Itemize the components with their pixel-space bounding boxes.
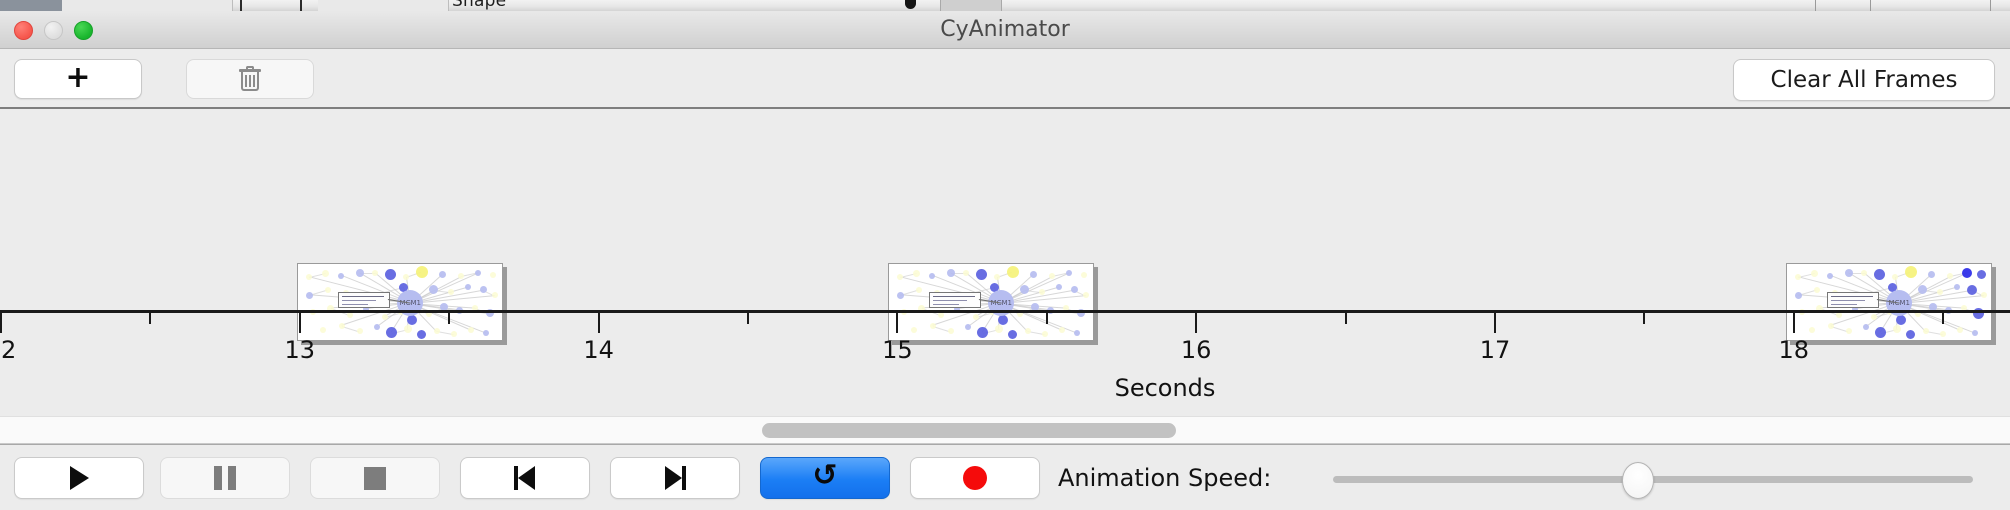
background-window-dark-tab — [0, 0, 62, 11]
network-node — [1007, 266, 1019, 278]
axis-tick-label: 16 — [1181, 336, 1212, 364]
network-node — [416, 266, 428, 278]
trash-icon — [239, 66, 261, 92]
network-node — [403, 274, 409, 280]
network-node — [1892, 274, 1898, 280]
network-node — [1056, 284, 1062, 290]
skip-next-icon — [664, 466, 686, 490]
network-annotation-box — [1827, 292, 1879, 308]
cyanimator-window: Shape CyAnimator + Clear All Frames — [0, 0, 2010, 510]
axis-tick-minor — [1643, 313, 1645, 324]
network-node — [1081, 272, 1087, 278]
record-icon — [963, 466, 987, 490]
background-window-tab — [172, 0, 233, 11]
skip-to-start-button[interactable] — [460, 457, 590, 499]
player-controls-bar: ↺ Animation Speed: — [0, 444, 2010, 510]
network-node — [429, 285, 438, 294]
network-node — [1954, 284, 1960, 290]
clear-all-frames-button[interactable]: Clear All Frames — [1733, 59, 1995, 101]
network-node — [1066, 270, 1072, 276]
network-node — [1795, 292, 1802, 299]
network-node — [306, 274, 312, 280]
background-window-mark — [1815, 0, 1816, 11]
axis-tick-label: 15 — [882, 336, 913, 364]
network-node — [1962, 268, 1972, 278]
network-node — [465, 284, 471, 290]
slider-thumb[interactable] — [1622, 462, 1654, 499]
skip-previous-icon — [514, 466, 536, 490]
background-window-mark — [1870, 0, 1871, 11]
network-node — [947, 269, 955, 277]
skip-to-end-button[interactable] — [610, 457, 740, 499]
network-node — [1827, 273, 1833, 279]
network-node — [1918, 285, 1927, 294]
network-node — [1814, 287, 1820, 293]
loop-icon: ↺ — [812, 461, 837, 491]
pause-icon — [214, 466, 236, 490]
scrollbar-thumb[interactable] — [762, 423, 1176, 438]
axis-tick-minor — [1942, 313, 1944, 324]
background-window-mark — [240, 0, 242, 11]
network-node — [994, 274, 1000, 280]
stop-button[interactable] — [310, 457, 440, 499]
axis-tick-major — [598, 313, 600, 333]
network-node — [1981, 292, 1987, 298]
delete-frame-button[interactable] — [186, 59, 314, 99]
background-window-mark — [1990, 0, 1991, 11]
network-node — [913, 270, 920, 277]
network-node — [356, 269, 364, 277]
record-button[interactable] — [910, 457, 1040, 499]
network-node — [1874, 269, 1885, 280]
background-window-box — [940, 0, 1002, 11]
timeline-axis: 12131415161718 — [0, 310, 2010, 416]
background-window-tab — [62, 0, 173, 11]
loop-button[interactable]: ↺ — [760, 457, 890, 499]
background-window-tab — [388, 0, 449, 11]
network-node — [976, 269, 987, 280]
timeline-scrollbar[interactable] — [0, 416, 2010, 444]
axis-tick-label: 14 — [583, 336, 614, 364]
network-node — [325, 287, 331, 293]
background-window-strip: Shape — [0, 0, 2010, 11]
network-annotation-box — [338, 292, 390, 308]
window-title: CyAnimator — [0, 11, 2010, 49]
network-node — [897, 292, 904, 299]
network-node — [1928, 271, 1935, 278]
network-node — [1030, 271, 1037, 278]
frame-toolbar: + Clear All Frames — [0, 49, 2010, 109]
axis-title: Seconds — [1115, 374, 1216, 402]
background-window-cursor — [905, 0, 916, 9]
add-frame-button[interactable]: + — [14, 59, 142, 99]
axis-tick-major — [0, 313, 2, 333]
axis-tick-label: 12 — [0, 336, 16, 364]
network-node — [490, 272, 496, 278]
network-node — [1811, 270, 1818, 277]
axis-tick-minor — [1345, 313, 1347, 324]
axis-tick-major — [1494, 313, 1496, 333]
axis-tick-minor — [149, 313, 151, 324]
axis-tick-label: 13 — [285, 336, 316, 364]
network-node — [492, 292, 498, 298]
network-node — [439, 271, 446, 278]
play-icon — [70, 466, 89, 490]
background-window-label: Shape — [452, 0, 506, 11]
network-node — [1083, 292, 1089, 298]
network-node — [929, 273, 935, 279]
network-node — [1020, 285, 1029, 294]
network-node — [1845, 269, 1853, 277]
axis-line — [0, 310, 2010, 313]
title-bar[interactable]: CyAnimator — [0, 11, 2010, 49]
animation-speed-label: Animation Speed: — [1058, 457, 1271, 499]
background-window-mark — [300, 0, 302, 11]
axis-tick-minor — [747, 313, 749, 324]
network-node — [916, 287, 922, 293]
axis-tick-minor — [1046, 313, 1048, 324]
network-node — [1977, 270, 1986, 279]
network-node — [385, 269, 396, 280]
plus-icon: + — [65, 63, 90, 93]
axis-tick-major — [299, 313, 301, 333]
network-node — [897, 274, 903, 280]
network-node — [322, 270, 329, 277]
network-node — [306, 292, 313, 299]
pause-button[interactable] — [160, 457, 290, 499]
axis-tick-major — [1793, 313, 1795, 333]
background-window-tab — [318, 0, 389, 11]
stop-icon — [364, 467, 386, 490]
network-annotation-box — [929, 292, 981, 308]
play-button[interactable] — [14, 457, 144, 499]
network-node — [1795, 274, 1801, 280]
axis-tick-label: 17 — [1480, 336, 1511, 364]
network-node — [475, 270, 481, 276]
axis-tick-label: 18 — [1779, 336, 1810, 364]
network-node — [1905, 266, 1917, 278]
network-node — [338, 273, 344, 279]
animation-speed-slider[interactable] — [1333, 476, 1973, 483]
axis-tick-major — [896, 313, 898, 333]
axis-tick-minor — [448, 313, 450, 324]
axis-tick-major — [1195, 313, 1197, 333]
